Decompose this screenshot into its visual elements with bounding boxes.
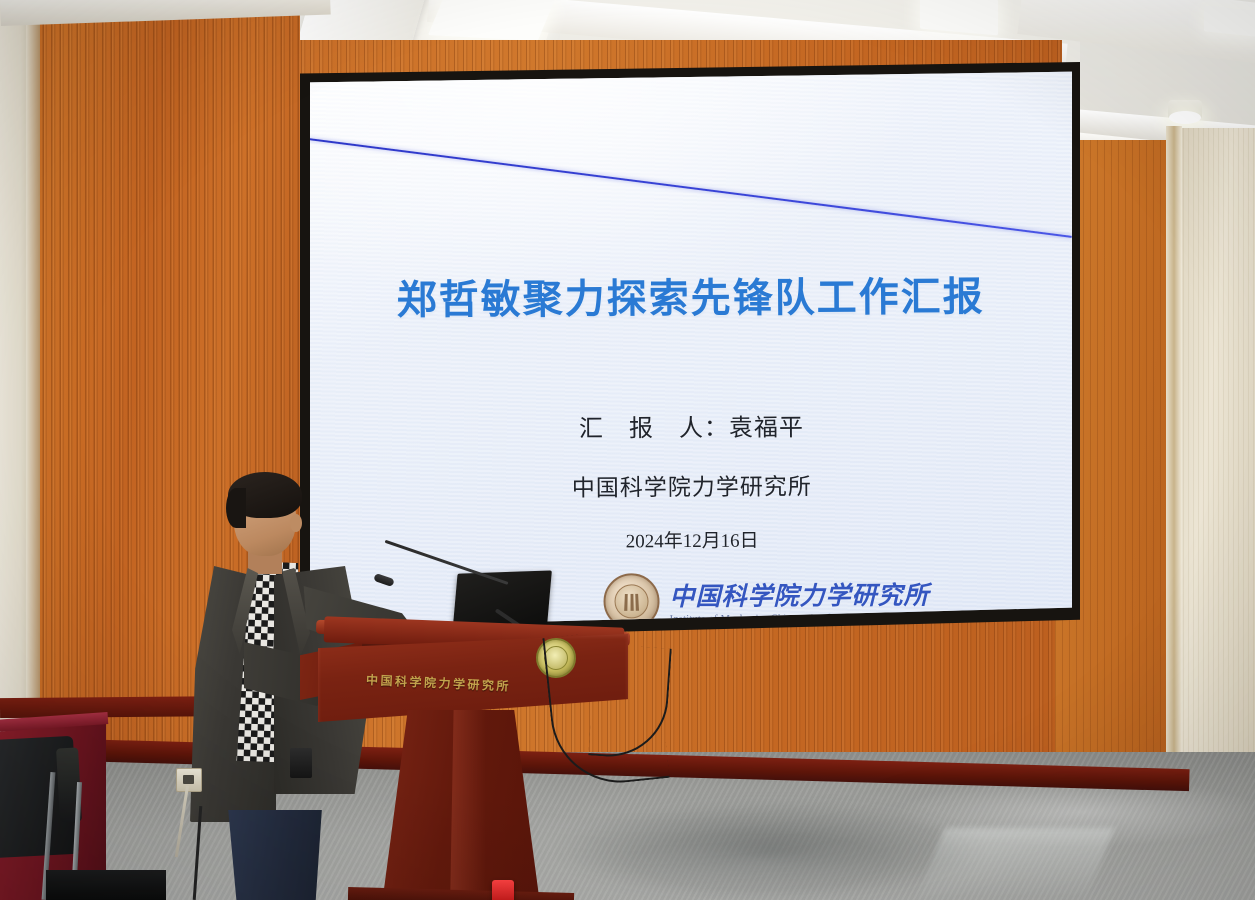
slide-presenter-line: 汇 报 人：袁福平 xyxy=(310,406,1072,446)
podium-stem-highlight xyxy=(450,710,486,900)
floor-speaker xyxy=(46,870,166,900)
recessed-panel-light-4 xyxy=(1204,5,1255,36)
left-wall-trim-edge xyxy=(26,0,40,790)
water-bottle-cap xyxy=(492,880,514,900)
recessed-panel-light-1 xyxy=(428,0,556,41)
speaker-podium: 中国科学院力学研究所 xyxy=(300,560,640,900)
wall-divider-post xyxy=(1166,126,1182,816)
presenter-hair-side xyxy=(226,488,246,528)
institute-name-chinese: 中国科学院力学研究所 xyxy=(669,576,929,614)
microphone-icon xyxy=(373,573,395,587)
slide-title: 郑哲敏聚力探索先锋队工作汇报 xyxy=(310,264,1072,327)
far-right-fabric-wall xyxy=(1178,128,1255,808)
ceiling-downlight-icon xyxy=(1168,100,1202,118)
presenter-ear xyxy=(290,514,302,532)
wall-power-outlet-icon xyxy=(176,768,202,792)
presentation-photo-scene: 郑哲敏聚力探索先锋队工作汇报 汇 报 人：袁福平 中国科学院力学研究所 2024… xyxy=(0,0,1255,900)
